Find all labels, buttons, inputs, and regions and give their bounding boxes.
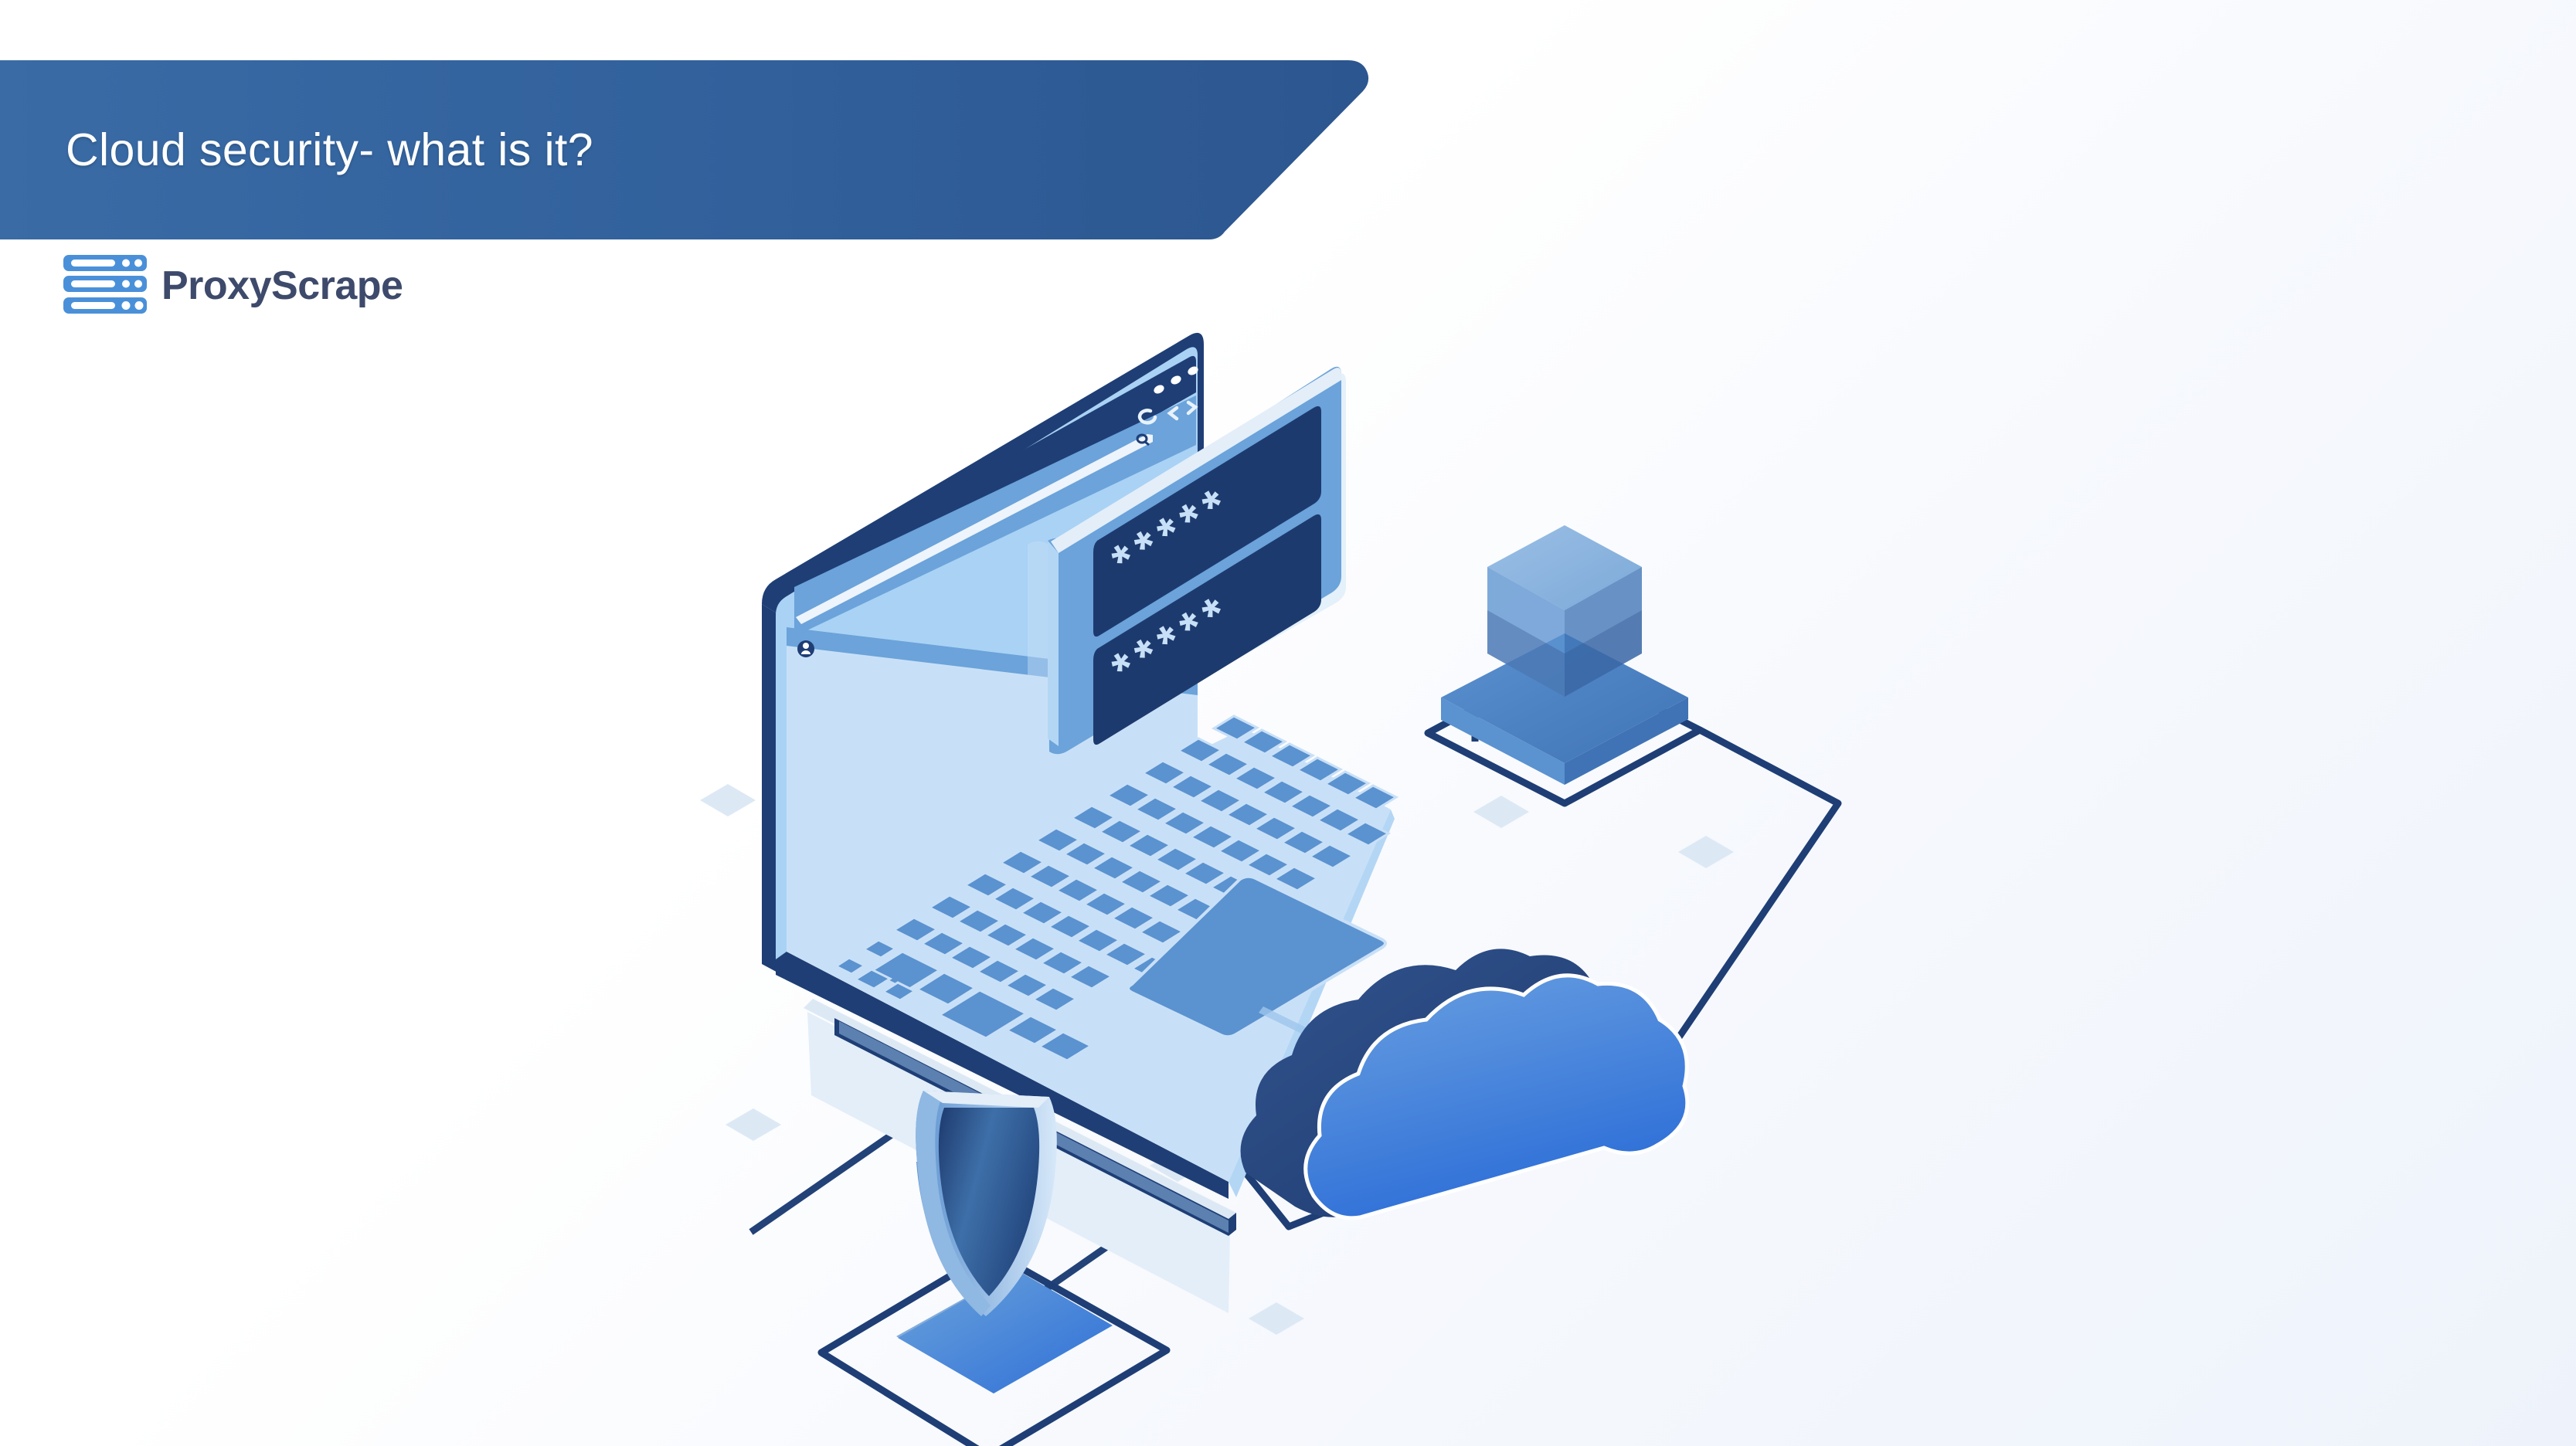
user-account-icon	[797, 640, 814, 657]
brand-logo[interactable]: ProxyScrape	[63, 255, 403, 314]
page-title: Cloud security- what is it?	[66, 60, 593, 239]
server-cube	[1441, 525, 1688, 785]
server-rack-icon	[63, 255, 147, 314]
isometric-cloud-security-illustration: ***** *****	[695, 309, 1932, 1446]
page-banner: Cloud security- what is it?	[0, 60, 1383, 239]
brand-name: ProxyScrape	[161, 266, 403, 306]
